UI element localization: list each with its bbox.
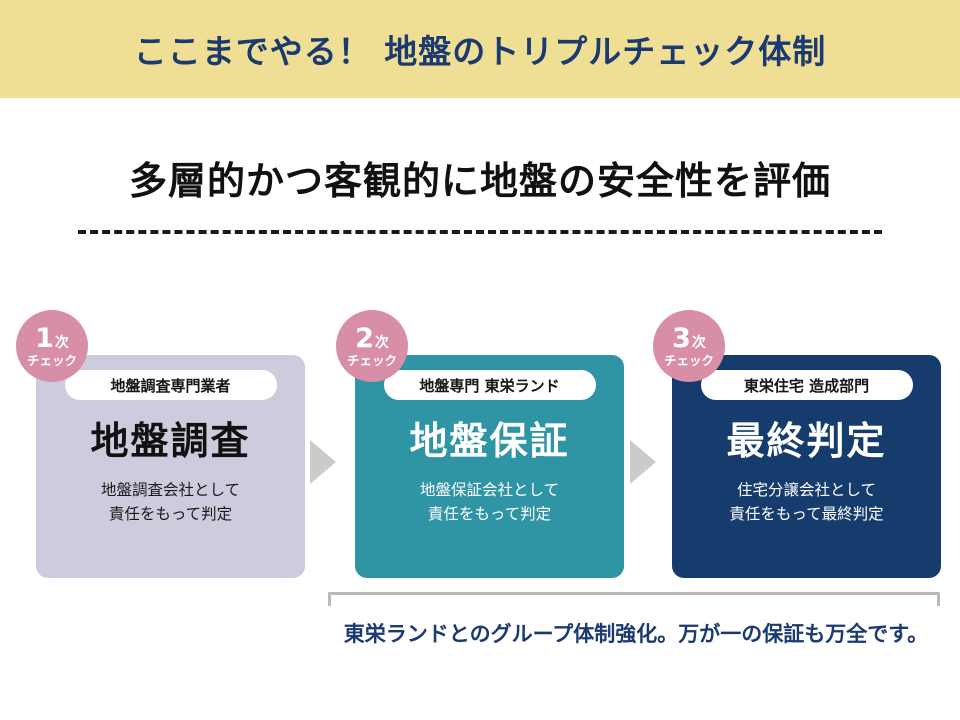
flow-card-step-1: 地盤調査専門業者 地盤調査 地盤調査会社として 責任をもって判定: [36, 355, 305, 578]
step-badge-top-2: 2 次: [355, 325, 389, 352]
step-badge-label-1: チェック: [27, 355, 77, 368]
flow-card-body-1: 地盤調査会社として 責任をもって判定: [101, 478, 240, 526]
flow-card-body-line-2: 責任をもって判定: [420, 502, 559, 526]
step-badge-top-3: 3 次: [672, 325, 706, 352]
subtitle-container: 多層的かつ客観的に地盤の安全性を評価: [0, 150, 960, 205]
step-badge-top-1: 1 次: [35, 325, 69, 352]
step-badge-suffix-3: 次: [692, 336, 706, 350]
step-badge-2: 2 次 チェック: [336, 310, 408, 382]
dashed-divider: [78, 230, 882, 234]
subtitle-text: 多層的かつ客観的に地盤の安全性を評価: [129, 150, 831, 205]
flow-card-heading-2: 地盤保証: [409, 422, 569, 460]
flow-card-pill-1: 地盤調査専門業者: [65, 370, 277, 400]
flow-card-heading-1: 地盤調査: [90, 422, 250, 460]
footer-caption: 東栄ランドとのグループ体制強化。万が一の保証も万全です。: [328, 618, 944, 648]
triple-check-flow: 地盤調査専門業者 地盤調査 地盤調査会社として 責任をもって判定 1 次 チェッ…: [0, 300, 960, 590]
step-badge-number-2: 2: [355, 325, 374, 352]
flow-card-body-line-1: 地盤保証会社として: [420, 478, 559, 502]
step-badge-label-3: チェック: [664, 355, 714, 368]
header-band: ここまでやる！ 地盤のトリプルチェック体制: [0, 0, 960, 98]
step-badge-number-1: 1: [35, 325, 54, 352]
group-bracket: [328, 592, 940, 606]
step-badge-number-3: 3: [672, 325, 691, 352]
flow-card-body-3: 住宅分譲会社として 責任をもって最終判定: [729, 478, 883, 526]
step-badge-suffix-1: 次: [55, 336, 69, 350]
flow-card-body-line-1: 住宅分譲会社として: [729, 478, 883, 502]
flow-card-pill-3: 東栄住宅 造成部門: [701, 370, 913, 400]
flow-card-body-line-2: 責任をもって最終判定: [729, 502, 883, 526]
flow-card-step-2: 地盤専門 東栄ランド 地盤保証 地盤保証会社として 責任をもって判定: [355, 355, 624, 578]
flow-card-body-line-2: 責任をもって判定: [101, 502, 240, 526]
step-badge-3: 3 次 チェック: [653, 310, 725, 382]
flow-card-step-3: 東栄住宅 造成部門 最終判定 住宅分譲会社として 責任をもって最終判定: [672, 355, 941, 578]
flow-card-heading-3: 最終判定: [726, 422, 886, 460]
flow-card-pill-2: 地盤専門 東栄ランド: [384, 370, 596, 400]
arrow-right-icon-2: [630, 440, 656, 484]
flow-card-body-line-1: 地盤調査会社として: [101, 478, 240, 502]
flow-card-body-2: 地盤保証会社として 責任をもって判定: [420, 478, 559, 526]
step-badge-suffix-2: 次: [375, 336, 389, 350]
step-badge-1: 1 次 チェック: [16, 310, 88, 382]
page-title: ここまでやる！ 地盤のトリプルチェック体制: [134, 25, 827, 73]
arrow-right-icon-1: [310, 440, 336, 484]
step-badge-label-2: チェック: [347, 355, 397, 368]
